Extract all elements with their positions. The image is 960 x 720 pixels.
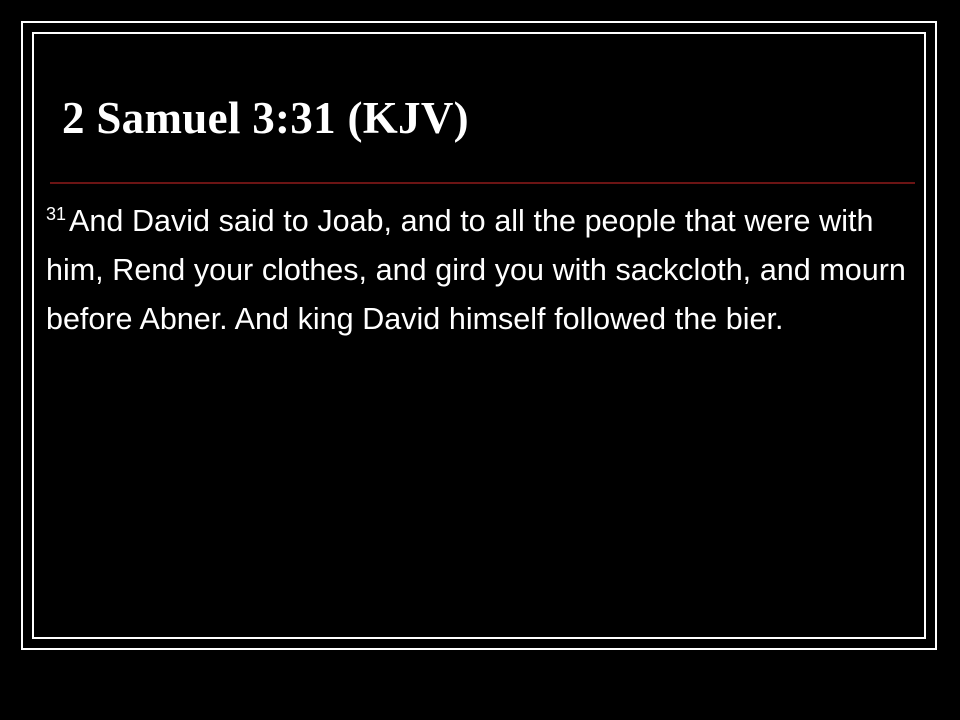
verse-paragraph: 31And David said to Joab, and to all the…: [46, 197, 924, 344]
verse-number: 31: [46, 204, 69, 224]
verse-text: And David said to Joab, and to all the p…: [46, 204, 906, 336]
verse-body-block: 31And David said to Joab, and to all the…: [46, 197, 924, 344]
slide-title-block: 2 Samuel 3:31 (KJV): [62, 92, 902, 144]
page-title: 2 Samuel 3:31 (KJV): [62, 92, 902, 144]
slide-content-area: 2 Samuel 3:31 (KJV) 31And David said to …: [34, 34, 924, 637]
title-divider-rule: [50, 182, 915, 184]
presentation-slide: 2 Samuel 3:31 (KJV) 31And David said to …: [0, 0, 960, 720]
